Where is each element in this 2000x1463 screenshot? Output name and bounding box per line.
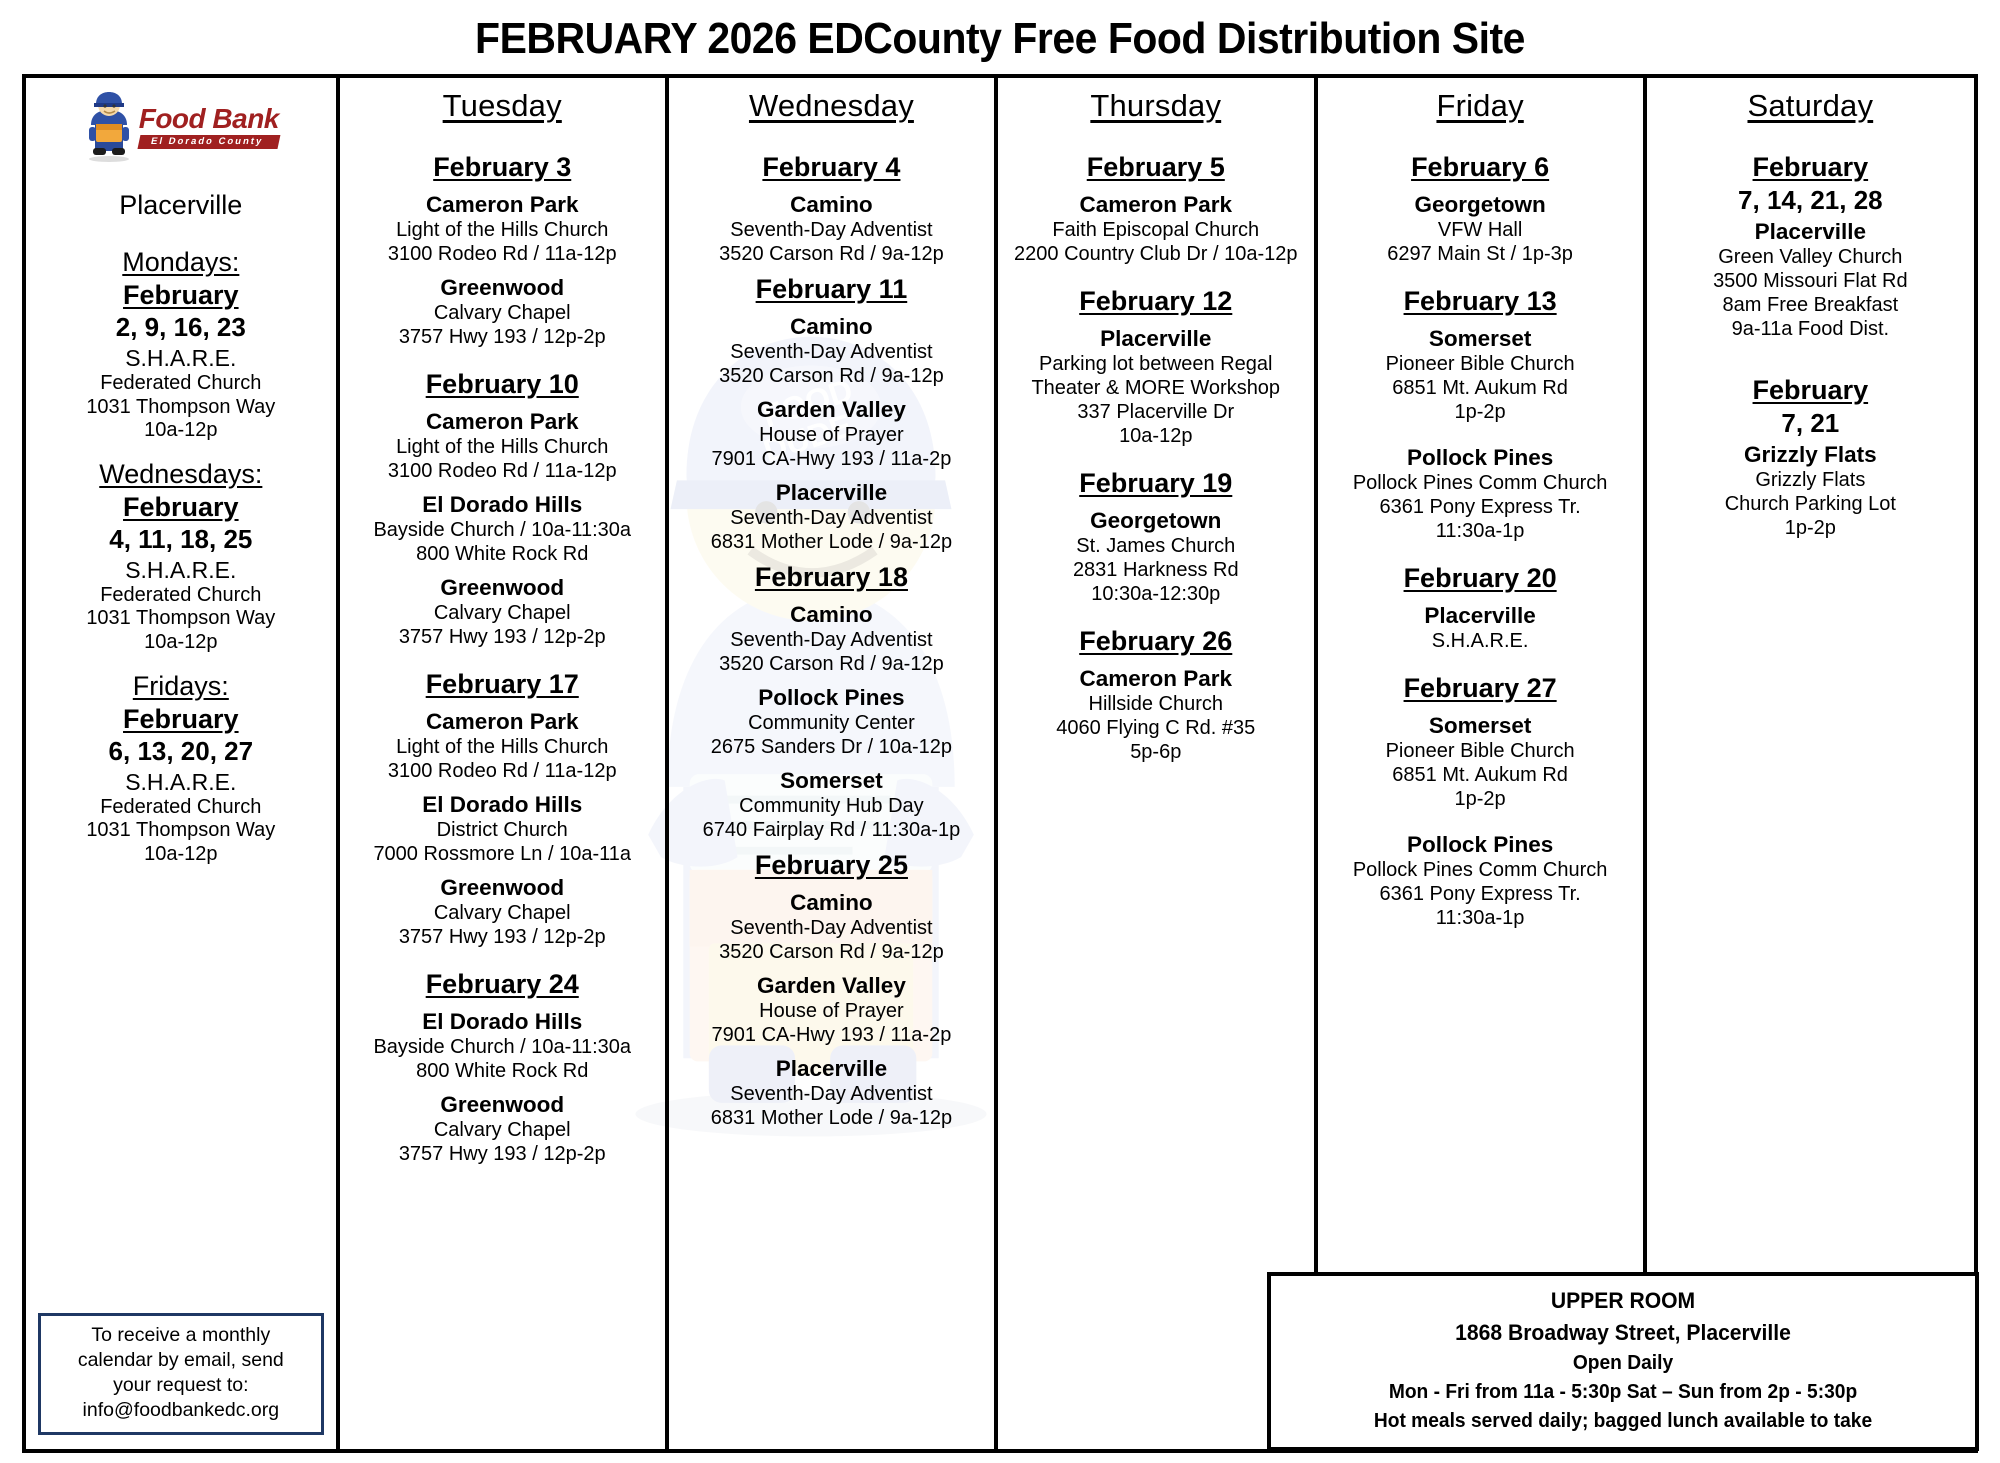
feb-word: February	[1653, 375, 1968, 406]
event-time: 1p-2p	[1324, 787, 1637, 811]
wednesday-block: Wednesdays: February 4, 11, 18, 25 S.H.A…	[32, 459, 330, 655]
event-venue: Light of the Hills Church	[346, 735, 659, 759]
event-breakfast: 8am Free Breakfast	[1653, 293, 1968, 317]
day-group: February 26	[1004, 626, 1307, 657]
event-venue: House of Prayer	[675, 999, 988, 1023]
date-heading: February 10	[346, 369, 659, 400]
wednesday-dates: 4, 11, 18, 25	[32, 524, 330, 555]
event-city: Camino	[675, 191, 988, 218]
event-city: Garden Valley	[675, 972, 988, 999]
friday-block: Fridays: February 6, 13, 20, 27 S.H.A.R.…	[32, 671, 330, 867]
event-address: 6361 Pony Express Tr.	[1324, 495, 1637, 519]
event-city: Cameron Park	[346, 191, 659, 218]
event-entry: Pollock Pines Pollock Pines Comm Church …	[1324, 444, 1637, 543]
mascot-icon	[83, 91, 135, 163]
event-entry: Garden Valley House of Prayer 7901 CA-Hw…	[675, 396, 988, 471]
feb-word: February	[1653, 152, 1968, 183]
event-time: 10:30a-12:30p	[1004, 582, 1307, 606]
event-entry: Greenwood Calvary Chapel 3757 Hwy 193 / …	[346, 1091, 659, 1166]
event-venue: House of Prayer	[675, 423, 988, 447]
day-group: February 19	[1004, 468, 1307, 499]
event-address: 6851 Mt. Aukum Rd	[1324, 763, 1637, 787]
event-address: 3100 Rodeo Rd / 11a-12p	[346, 759, 659, 783]
column-wednesday: Wednesday February 4 Camino Seventh-Day …	[669, 78, 998, 1449]
event-entry: Placerville Seventh-Day Adventist 6831 M…	[675, 1055, 988, 1130]
food-bank-logo: Food Bank El Dorado County	[32, 90, 330, 164]
event-address: 3520 Carson Rd / 9a-12p	[675, 652, 988, 676]
feb-word: February	[32, 280, 330, 311]
event-time: 1p-2p	[1324, 400, 1637, 424]
event-venue: St. James Church	[1004, 534, 1307, 558]
event-city: El Dorado Hills	[346, 1008, 659, 1035]
event-address: 2831 Harkness Rd	[1004, 558, 1307, 582]
friday-time: 10a-12p	[32, 843, 330, 867]
event-entry: Pollock Pines Pollock Pines Comm Church …	[1324, 831, 1637, 930]
event-venue: Calvary Chapel	[346, 901, 659, 925]
event-entry: Placerville Seventh-Day Adventist 6831 M…	[675, 479, 988, 554]
event-venue: Grizzly Flats	[1653, 468, 1968, 492]
monday-block: Mondays: February 2, 9, 16, 23 S.H.A.R.E…	[32, 247, 330, 443]
date-heading: February 4	[675, 152, 988, 183]
email-box-line1: To receive a monthly	[45, 1323, 317, 1348]
event-time: 10a-12p	[1004, 424, 1307, 448]
event-venue: Community Center	[675, 711, 988, 735]
event-venue: Hillside Church	[1004, 692, 1307, 716]
date-heading: February 17	[346, 669, 659, 700]
event-city: Placerville	[1004, 325, 1307, 352]
event-entry: El Dorado Hills Bayside Church / 10a-11:…	[346, 491, 659, 566]
event-address: 800 White Rock Rd	[346, 542, 659, 566]
event-venue: Seventh-Day Adventist	[675, 916, 988, 940]
event-address: 3757 Hwy 193 / 12p-2p	[346, 325, 659, 349]
logo-wordmark: Food Bank El Dorado County	[139, 105, 279, 149]
event-city: Camino	[675, 313, 988, 340]
date-heading: February 25	[675, 850, 988, 881]
day-group: February 11	[675, 274, 988, 305]
wednesday-address: 1031 Thompson Way	[32, 607, 330, 631]
event-venue: VFW Hall	[1324, 218, 1637, 242]
event-address: 6831 Mother Lode / 9a-12p	[675, 530, 988, 554]
event-entry: Georgetown St. James Church 2831 Harknes…	[1004, 507, 1307, 606]
event-address: 3520 Carson Rd / 9a-12p	[675, 364, 988, 388]
event-address: 6297 Main St / 1p-3p	[1324, 242, 1637, 266]
upper-room-address: 1868 Broadway Street, Placerville	[1295, 1317, 1952, 1349]
calendar-page: FEBRUARY 2026 EDCounty Free Food Distrib…	[0, 0, 2000, 1463]
date-heading: February 18	[675, 562, 988, 593]
event-time: 11:30a-1p	[1324, 906, 1637, 930]
upper-room-name: UPPER ROOM	[1295, 1285, 1952, 1317]
day-header-wednesday: Wednesday	[675, 88, 988, 124]
event-entry: Pollock Pines Community Center 2675 Sand…	[675, 684, 988, 759]
day-group: February 13	[1324, 286, 1637, 317]
event-entry: Somerset Pioneer Bible Church 6851 Mt. A…	[1324, 325, 1637, 424]
date-heading: February 5	[1004, 152, 1307, 183]
event-address: 7901 CA-Hwy 193 / 11a-2p	[675, 1023, 988, 1047]
event-venue: Calvary Chapel	[346, 601, 659, 625]
weekday-label-wednesdays: Wednesdays:	[32, 459, 330, 490]
day-group: February 20	[1324, 563, 1637, 594]
monday-dates: 2, 9, 16, 23	[32, 312, 330, 343]
event-city: Placerville	[1324, 602, 1637, 629]
event-entry: Somerset Community Hub Day 6740 Fairplay…	[675, 767, 988, 842]
event-city: Somerset	[1324, 712, 1637, 739]
day-header-tuesday: Tuesday	[346, 88, 659, 124]
event-city: El Dorado Hills	[346, 791, 659, 818]
event-venue: Seventh-Day Adventist	[675, 340, 988, 364]
event-address: Church Parking Lot	[1653, 492, 1968, 516]
event-city: Pollock Pines	[1324, 831, 1637, 858]
event-entry: Georgetown VFW Hall 6297 Main St / 1p-3p	[1324, 191, 1637, 266]
event-city: Cameron Park	[346, 408, 659, 435]
column-thursday: Thursday February 5 Cameron Park Faith E…	[998, 78, 1317, 1449]
event-entry: Camino Seventh-Day Adventist 3520 Carson…	[675, 601, 988, 676]
day-group: February 5	[1004, 152, 1307, 183]
monday-time: 10a-12p	[32, 419, 330, 443]
day-group: February 3	[346, 152, 659, 183]
day-group: February 4	[675, 152, 988, 183]
tuesday-entries: February 3 Cameron Park Light of the Hil…	[346, 152, 659, 1166]
event-city: Placerville	[675, 1055, 988, 1082]
date-heading: February 13	[1324, 286, 1637, 317]
logo-brand: Food Bank	[139, 105, 279, 133]
event-venue: Pioneer Bible Church	[1324, 352, 1637, 376]
email-address[interactable]: info@foodbankedc.org	[45, 1398, 317, 1423]
day-header-saturday: Saturday	[1653, 88, 1968, 124]
event-address: 3520 Carson Rd / 9a-12p	[675, 242, 988, 266]
event-address: 2200 Country Club Dr / 10a-12p	[1004, 242, 1307, 266]
event-time: 9a-11a Food Dist.	[1653, 317, 1968, 341]
day-group: February 25	[675, 850, 988, 881]
event-address: 3520 Carson Rd / 9a-12p	[675, 940, 988, 964]
event-entry: Cameron Park Light of the Hills Church 3…	[346, 408, 659, 483]
event-entry: Greenwood Calvary Chapel 3757 Hwy 193 / …	[346, 574, 659, 649]
friday-dates: 6, 13, 20, 27	[32, 736, 330, 767]
event-venue: Seventh-Day Adventist	[675, 218, 988, 242]
monday-org: S.H.A.R.E.	[32, 345, 330, 372]
day-group: February 10	[346, 369, 659, 400]
event-entry: El Dorado Hills Bayside Church / 10a-11:…	[346, 1008, 659, 1083]
event-entry: Cameron Park Light of the Hills Church 3…	[346, 191, 659, 266]
event-city: Greenwood	[346, 574, 659, 601]
monday-venue: Federated Church	[32, 372, 330, 396]
event-venue: Pollock Pines Comm Church	[1324, 471, 1637, 495]
feb-word: February	[32, 704, 330, 735]
saturday-dates: 7, 21	[1653, 408, 1968, 439]
event-city: Placerville	[1653, 218, 1968, 245]
saturday-entries: February 7, 14, 21, 28 Placerville Green…	[1653, 152, 1968, 540]
day-header-friday: Friday	[1324, 88, 1637, 124]
event-entry: Cameron Park Hillside Church 4060 Flying…	[1004, 665, 1307, 764]
event-entry: Camino Seventh-Day Adventist 3520 Carson…	[675, 191, 988, 266]
event-address: 800 White Rock Rd	[346, 1059, 659, 1083]
event-city: Camino	[675, 889, 988, 916]
weekday-label-mondays: Mondays:	[32, 247, 330, 278]
thursday-entries: February 5 Cameron Park Faith Episcopal …	[1004, 152, 1307, 764]
event-venue: Faith Episcopal Church	[1004, 218, 1307, 242]
friday-venue: Federated Church	[32, 796, 330, 820]
event-city: Somerset	[1324, 325, 1637, 352]
placerville-city-label: Placerville	[32, 190, 330, 221]
date-heading: February 3	[346, 152, 659, 183]
event-entry: Greenwood Calvary Chapel 3757 Hwy 193 / …	[346, 874, 659, 949]
event-address: 7000 Rossmore Ln / 10a-11a	[346, 842, 659, 866]
day-group: February 18	[675, 562, 988, 593]
day-group: February 27	[1324, 673, 1637, 704]
date-heading: February 6	[1324, 152, 1637, 183]
event-address: 6831 Mother Lode / 9a-12p	[675, 1106, 988, 1130]
column-placerville: Food Bank El Dorado County Placerville M…	[26, 78, 340, 1449]
event-venue: Pollock Pines Comm Church	[1324, 858, 1637, 882]
column-friday: Friday February 6 Georgetown VFW Hall 62…	[1318, 78, 1647, 1449]
event-entry: Cameron Park Faith Episcopal Church 2200…	[1004, 191, 1307, 266]
event-city: Pollock Pines	[675, 684, 988, 711]
event-venue: District Church	[346, 818, 659, 842]
date-heading: February 11	[675, 274, 988, 305]
date-heading: February 19	[1004, 468, 1307, 499]
event-city: Placerville	[675, 479, 988, 506]
email-signup-box: To receive a monthly calendar by email, …	[38, 1313, 324, 1435]
date-heading: February 26	[1004, 626, 1307, 657]
event-address: 2675 Sanders Dr / 10a-12p	[675, 735, 988, 759]
event-address: 7901 CA-Hwy 193 / 11a-2p	[675, 447, 988, 471]
event-city: Grizzly Flats	[1653, 441, 1968, 468]
wednesday-org: S.H.A.R.E.	[32, 557, 330, 584]
event-venue: Bayside Church / 10a-11:30a	[346, 1035, 659, 1059]
friday-entries: February 6 Georgetown VFW Hall 6297 Main…	[1324, 152, 1637, 930]
event-address: 4060 Flying C Rd. #35	[1004, 716, 1307, 740]
event-city: Cameron Park	[1004, 191, 1307, 218]
wednesday-time: 10a-12p	[32, 631, 330, 655]
feb-word: February	[32, 492, 330, 523]
event-address: 3757 Hwy 193 / 12p-2p	[346, 625, 659, 649]
upper-room-hours: Mon - Fri from 11a - 5:30p Sat – Sun fro…	[1295, 1378, 1952, 1407]
event-address: 6851 Mt. Aukum Rd	[1324, 376, 1637, 400]
column-saturday: Saturday February 7, 14, 21, 28 Placervi…	[1647, 78, 1974, 1449]
event-entry: Camino Seventh-Day Adventist 3520 Carson…	[675, 313, 988, 388]
event-address: 337 Placerville Dr	[1004, 400, 1307, 424]
event-venue: Calvary Chapel	[346, 301, 659, 325]
event-address: 6740 Fairplay Rd / 11:30a-1p	[675, 818, 988, 842]
event-city: Camino	[675, 601, 988, 628]
friday-org: S.H.A.R.E.	[32, 769, 330, 796]
event-venue: Pioneer Bible Church	[1324, 739, 1637, 763]
email-box-line2: calendar by email, send	[45, 1348, 317, 1373]
event-city: Georgetown	[1004, 507, 1307, 534]
date-heading: February 24	[346, 969, 659, 1000]
email-box-line3: your request to:	[45, 1373, 317, 1398]
event-city: Garden Valley	[675, 396, 988, 423]
event-time: 5p-6p	[1004, 740, 1307, 764]
event-address: 3757 Hwy 193 / 12p-2p	[346, 1142, 659, 1166]
upper-room-open: Open Daily	[1295, 1349, 1952, 1378]
event-time: 11:30a-1p	[1324, 519, 1637, 543]
day-group: February 17	[346, 669, 659, 700]
date-heading: February 20	[1324, 563, 1637, 594]
event-entry: Greenwood Calvary Chapel 3757 Hwy 193 / …	[346, 274, 659, 349]
event-time: 1p-2p	[1653, 516, 1968, 540]
event-entry: Somerset Pioneer Bible Church 6851 Mt. A…	[1324, 712, 1637, 811]
event-venue: S.H.A.R.E.	[1324, 629, 1637, 653]
event-city: Pollock Pines	[1324, 444, 1637, 471]
event-city: Cameron Park	[346, 708, 659, 735]
event-venue: Community Hub Day	[675, 794, 988, 818]
day-group: February 12	[1004, 286, 1307, 317]
event-address: 6361 Pony Express Tr.	[1324, 882, 1637, 906]
upper-room-note: Hot meals served daily; bagged lunch ava…	[1295, 1407, 1952, 1436]
title-bar: FEBRUARY 2026 EDCounty Free Food Distrib…	[22, 8, 1978, 74]
event-venue: Seventh-Day Adventist	[675, 1082, 988, 1106]
upper-room-box: UPPER ROOM 1868 Broadway Street, Placerv…	[1267, 1272, 1979, 1451]
column-tuesday: Tuesday February 3 Cameron Park Light of…	[340, 78, 669, 1449]
event-city: El Dorado Hills	[346, 491, 659, 518]
day-group: February 6	[1324, 152, 1637, 183]
weekday-label-fridays: Fridays:	[32, 671, 330, 702]
event-venue-2: Theater & MORE Workshop	[1004, 376, 1307, 400]
event-entry: El Dorado Hills District Church 7000 Ros…	[346, 791, 659, 866]
wednesday-entries: February 4 Camino Seventh-Day Adventist …	[675, 152, 988, 1130]
monday-address: 1031 Thompson Way	[32, 396, 330, 420]
event-venue: Bayside Church / 10a-11:30a	[346, 518, 659, 542]
event-venue: Light of the Hills Church	[346, 218, 659, 242]
event-address: 3757 Hwy 193 / 12p-2p	[346, 925, 659, 949]
date-heading: February 12	[1004, 286, 1307, 317]
event-address: 3100 Rodeo Rd / 11a-12p	[346, 242, 659, 266]
saturday-block-1: February 7, 14, 21, 28 Placerville Green…	[1653, 152, 1968, 341]
event-venue: Parking lot between Regal	[1004, 352, 1307, 376]
friday-address: 1031 Thompson Way	[32, 819, 330, 843]
event-venue: Green Valley Church	[1653, 245, 1968, 269]
event-venue: Light of the Hills Church	[346, 435, 659, 459]
event-city: Greenwood	[346, 274, 659, 301]
event-city: Georgetown	[1324, 191, 1637, 218]
event-city: Somerset	[675, 767, 988, 794]
saturday-block-2: February 7, 21 Grizzly Flats Grizzly Fla…	[1653, 375, 1968, 540]
event-entry: Placerville S.H.A.R.E.	[1324, 602, 1637, 653]
event-entry: Cameron Park Light of the Hills Church 3…	[346, 708, 659, 783]
day-group: February 24	[346, 969, 659, 1000]
event-city: Greenwood	[346, 1091, 659, 1118]
page-title: FEBRUARY 2026 EDCounty Free Food Distrib…	[90, 14, 1909, 64]
event-venue: Calvary Chapel	[346, 1118, 659, 1142]
event-address: 3500 Missouri Flat Rd	[1653, 269, 1968, 293]
day-header-thursday: Thursday	[1004, 88, 1307, 124]
event-entry: Camino Seventh-Day Adventist 3520 Carson…	[675, 889, 988, 964]
calendar-grid: FOOD DUDE	[22, 74, 1978, 1453]
event-address: 3100 Rodeo Rd / 11a-12p	[346, 459, 659, 483]
event-entry: Placerville Parking lot between Regal Th…	[1004, 325, 1307, 448]
saturday-dates: 7, 14, 21, 28	[1653, 185, 1968, 216]
wednesday-venue: Federated Church	[32, 584, 330, 608]
date-heading: February 27	[1324, 673, 1637, 704]
event-entry: Garden Valley House of Prayer 7901 CA-Hw…	[675, 972, 988, 1047]
event-venue: Seventh-Day Adventist	[675, 506, 988, 530]
event-city: Cameron Park	[1004, 665, 1307, 692]
event-city: Greenwood	[346, 874, 659, 901]
logo-sub: El Dorado County	[137, 135, 280, 149]
event-venue: Seventh-Day Adventist	[675, 628, 988, 652]
